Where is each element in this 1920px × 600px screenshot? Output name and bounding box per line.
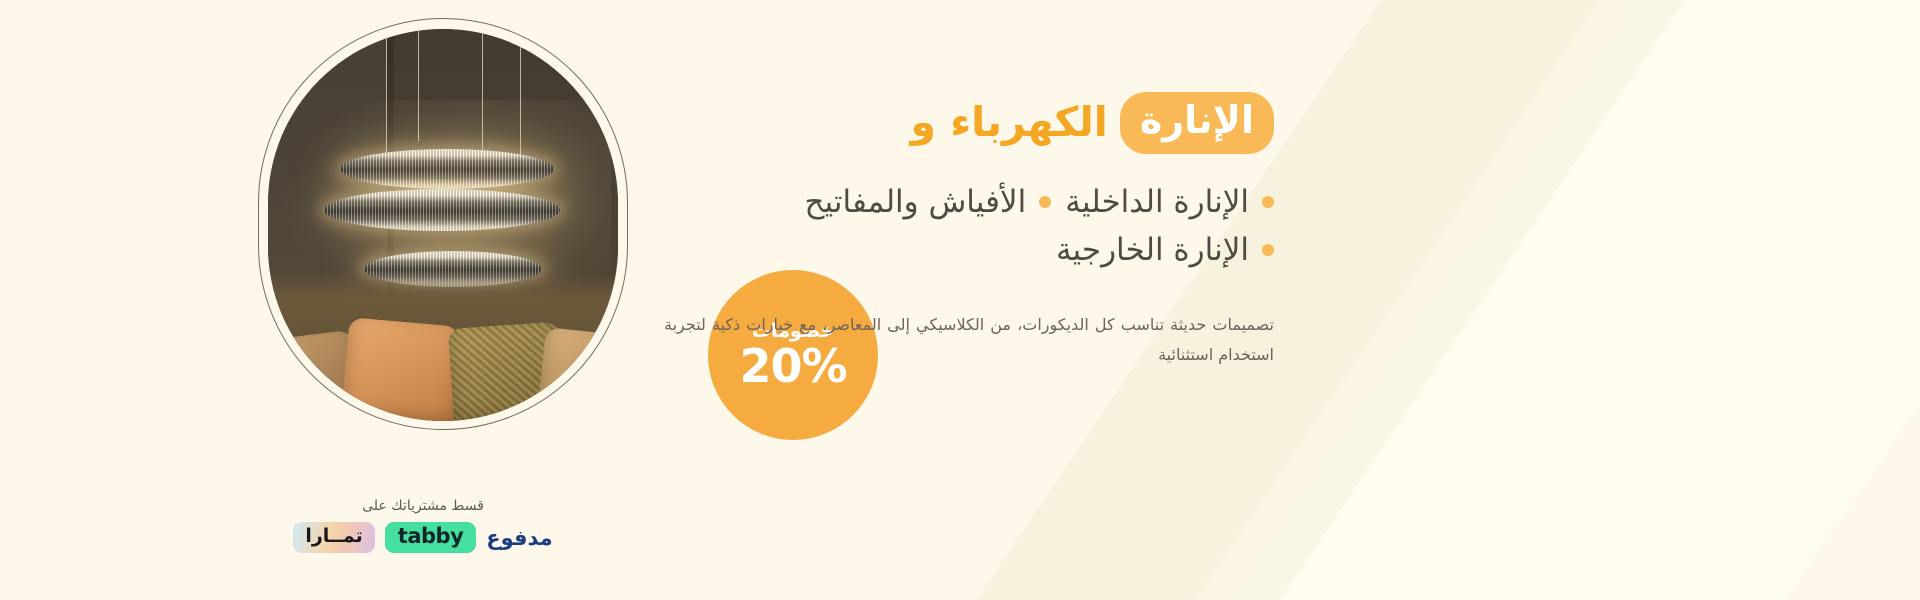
category-item-indoor-lighting[interactable]: الإنارة الداخلية (1065, 184, 1274, 220)
banner-description: تصميمات حديثة تناسب كل الديكورات، من الك… (664, 310, 1274, 369)
category-promo-banner: خصومات 20% قسط مشترياتك على مدفوع tabby … (0, 0, 1920, 600)
category-label: الإنارة الخارجية (1056, 232, 1249, 268)
chandelier-ring-middle (324, 189, 560, 231)
cushion (537, 327, 618, 421)
bullet-icon (1039, 196, 1051, 208)
product-visual: خصومات 20% (258, 18, 628, 430)
bullet-icon (1262, 244, 1274, 256)
category-item-sockets-switches[interactable]: الأفياش والمفاتيح (805, 184, 1052, 220)
payment-logo-row: مدفوع tabby تمــارا (258, 522, 588, 553)
tamara-logo[interactable]: تمــارا (293, 522, 374, 553)
chandelier-cable (418, 29, 419, 141)
ring-stripe-texture (340, 149, 554, 189)
banner-copy: الإنارة الكهرباء و الإنارة الداخلية الأف… (646, 92, 1274, 369)
chandelier-ring-top (340, 149, 554, 189)
product-photo (268, 29, 618, 421)
madfu-logo[interactable]: مدفوع (486, 526, 552, 550)
ring-stripe-texture (324, 189, 560, 231)
category-label: الإنارة الداخلية (1065, 184, 1249, 220)
headline-badge: الإنارة (1120, 92, 1274, 154)
payment-caption: قسط مشترياتك على (258, 498, 588, 514)
category-line-1: الإنارة الداخلية الأفياش والمفاتيح (646, 184, 1274, 220)
payment-options: قسط مشترياتك على مدفوع tabby تمــارا (258, 498, 588, 553)
cushion (340, 317, 462, 421)
tabby-logo[interactable]: tabby (385, 522, 476, 553)
table-lamp (292, 404, 318, 421)
headline-main: الكهرباء و (910, 100, 1107, 145)
category-item-outdoor-lighting[interactable]: الإنارة الخارجية (1056, 232, 1274, 268)
sofa (268, 272, 618, 421)
background-diagonal-band (1233, 0, 1920, 600)
category-label: الأفياش والمفاتيح (805, 184, 1027, 220)
chandelier-cable (386, 29, 387, 157)
category-line-2: الإنارة الخارجية (646, 232, 1274, 268)
headline: الإنارة الكهرباء و (646, 92, 1274, 154)
chandelier-cable (482, 29, 483, 163)
bullet-icon (1262, 196, 1274, 208)
